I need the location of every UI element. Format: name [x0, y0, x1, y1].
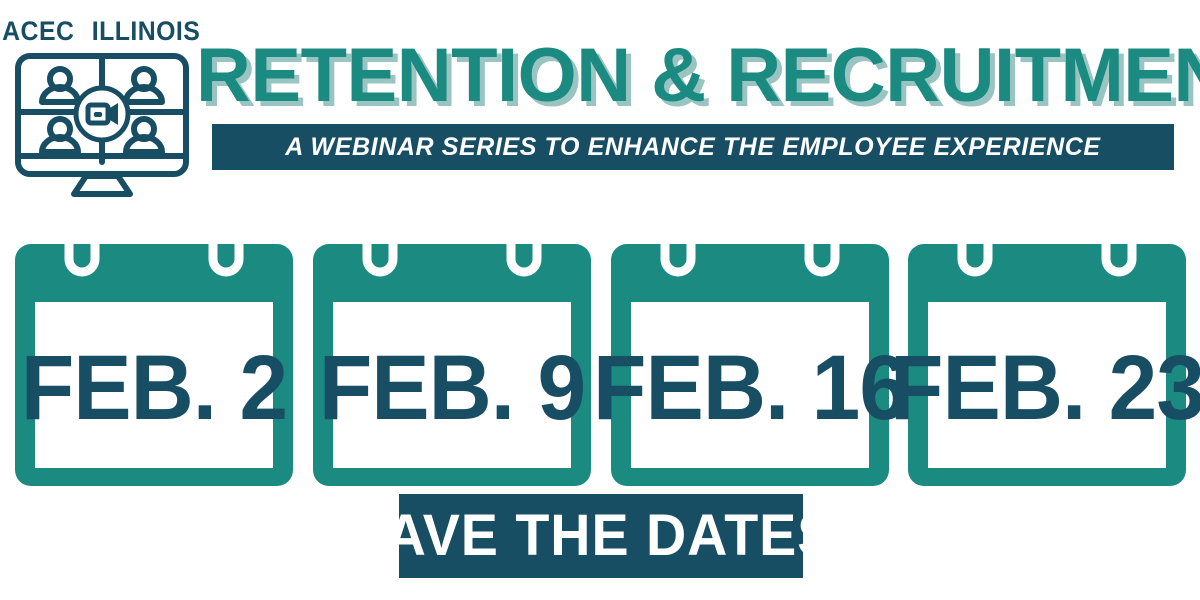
save-the-dates-banner: SAVE THE DATES!: [399, 494, 803, 578]
calendar-icon: [609, 222, 891, 488]
save-the-dates-text: SAVE THE DATES!: [347, 507, 854, 565]
video-camera-icon: [76, 88, 128, 140]
date-card: FEB. 23: [906, 222, 1188, 488]
page-title: RETENTION & RECRUITMENT: [196, 36, 1186, 116]
promo-graphic-canvas: ACEC ILLINOIS: [0, 0, 1200, 600]
date-card: FEB. 16: [609, 222, 891, 488]
date-card-row: FEB. 2 FEB. 9 FEB. 16: [0, 222, 1200, 488]
subtitle-text: A WEBINAR SERIES TO ENHANCE THE EMPLOYEE…: [285, 135, 1100, 160]
logo-word-acec: ACEC: [2, 18, 74, 45]
date-card: FEB. 9: [311, 222, 593, 488]
calendar-icon: [906, 222, 1188, 488]
calendar-icon: [311, 222, 593, 488]
subtitle-banner: A WEBINAR SERIES TO ENHANCE THE EMPLOYEE…: [212, 124, 1174, 170]
logo-wordmark: ACEC ILLINOIS: [12, 14, 192, 48]
logo-word-illinois: ILLINOIS: [92, 18, 201, 45]
video-conference-monitor-icon: [14, 52, 190, 198]
calendar-icon: [13, 222, 295, 488]
acec-illinois-logo: ACEC ILLINOIS: [12, 14, 192, 199]
date-card: FEB. 2: [13, 222, 295, 488]
